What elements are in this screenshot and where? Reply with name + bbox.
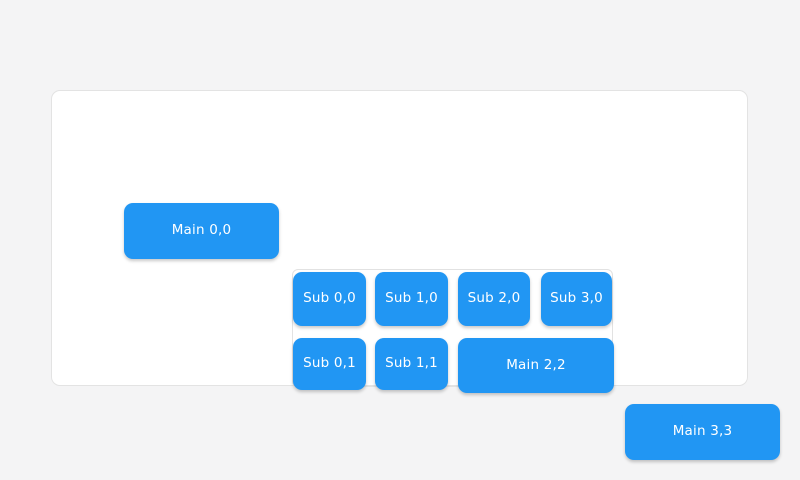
sub-cell-0-1[interactable]: Sub 0,1 — [293, 338, 366, 390]
sub-cell-0-1-label: Sub 0,1 — [303, 357, 356, 371]
main-cell-3-3[interactable]: Main 3,3 — [625, 404, 780, 460]
sub-cell-0-0[interactable]: Sub 0,0 — [293, 272, 366, 326]
main-cell-2-2-label: Main 2,2 — [506, 359, 566, 373]
main-cell-3-3-label: Main 3,3 — [673, 425, 733, 439]
main-cell-0-0[interactable]: Main 0,0 — [124, 203, 279, 259]
sub-cell-3-0-label: Sub 3,0 — [550, 292, 603, 306]
sub-cell-1-0[interactable]: Sub 1,0 — [375, 272, 448, 326]
sub-cell-3-0[interactable]: Sub 3,0 — [541, 272, 612, 326]
sub-cell-0-0-label: Sub 0,0 — [303, 292, 356, 306]
sub-cell-1-1-label: Sub 1,1 — [385, 357, 438, 371]
sub-cell-1-1[interactable]: Sub 1,1 — [375, 338, 448, 390]
main-cell-0-0-label: Main 0,0 — [172, 224, 232, 238]
sub-cell-1-0-label: Sub 1,0 — [385, 292, 438, 306]
main-cell-2-2[interactable]: Main 2,2 — [458, 338, 614, 393]
sub-cell-2-0[interactable]: Sub 2,0 — [458, 272, 530, 326]
sub-cell-2-0-label: Sub 2,0 — [468, 292, 521, 306]
app-card: Main 0,0 Sub 0,0 Sub 1,0 Sub 2,0 Sub 3,0… — [51, 90, 748, 386]
